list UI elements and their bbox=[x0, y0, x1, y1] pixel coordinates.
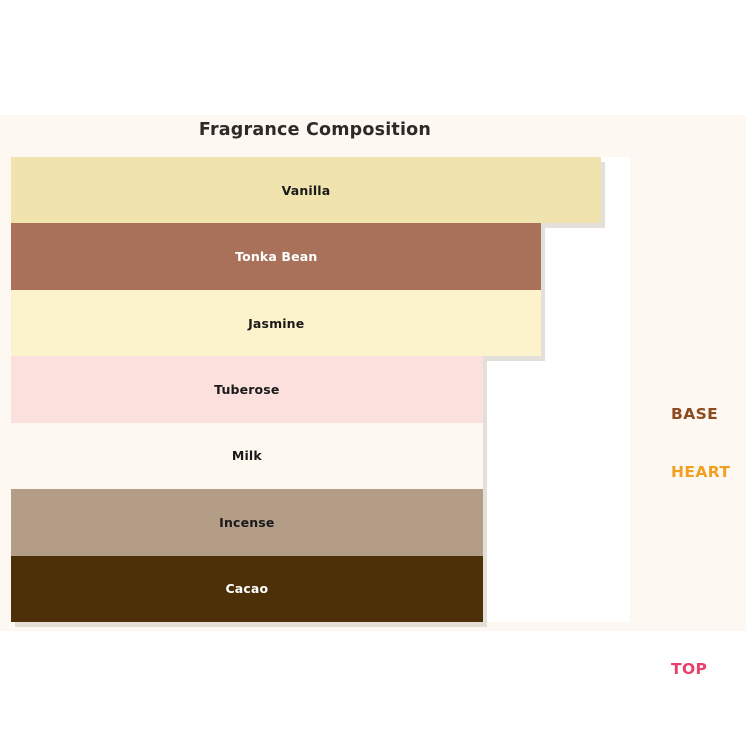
family-label-heart: HEART bbox=[671, 463, 730, 481]
plot-area: VanillaTonka BeanJasmineTuberoseMilkInce… bbox=[11, 157, 630, 622]
bar-label: Vanilla bbox=[282, 183, 331, 198]
bar-label: Tuberose bbox=[214, 382, 279, 397]
family-label-top: TOP bbox=[671, 660, 707, 678]
bar-label: Cacao bbox=[225, 581, 268, 596]
bar-milk[interactable]: Milk bbox=[11, 423, 483, 489]
family-label-base: BASE bbox=[671, 405, 718, 423]
bar-jasmine[interactable]: Jasmine bbox=[11, 290, 541, 356]
bar-vanilla[interactable]: Vanilla bbox=[11, 157, 601, 223]
bar-label: Incense bbox=[219, 515, 274, 530]
bar-cacao[interactable]: Cacao bbox=[11, 556, 483, 622]
bar-label: Jasmine bbox=[248, 316, 304, 331]
bar-label: Tonka Bean bbox=[235, 249, 317, 264]
bar-tonka-bean[interactable]: Tonka Bean bbox=[11, 223, 541, 289]
bar-tuberose[interactable]: Tuberose bbox=[11, 356, 483, 422]
chart-figure-panel: Fragrance Composition VanillaTonka BeanJ… bbox=[0, 115, 746, 631]
chart-title: Fragrance Composition bbox=[0, 120, 630, 140]
bar-label: Milk bbox=[232, 448, 262, 463]
bar-incense[interactable]: Incense bbox=[11, 489, 483, 555]
